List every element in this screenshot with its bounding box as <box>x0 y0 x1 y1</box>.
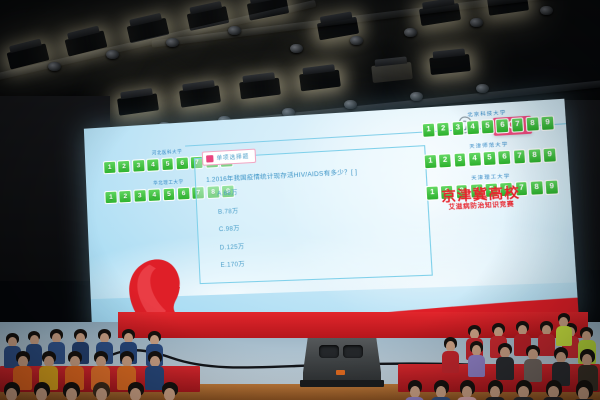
event-banner-line1: 京津冀高校 <box>441 185 520 203</box>
question-type-label: 单项选择题 <box>216 152 249 162</box>
score-cell[interactable]: 4 <box>146 158 160 172</box>
score-cell[interactable]: 3 <box>132 159 145 173</box>
score-cell[interactable]: 5 <box>161 157 175 171</box>
university-score-cell[interactable]: 2 <box>436 122 450 137</box>
right-university-panel: 北京科技大学 1 2 3 4 5 6 7 8 9 天津师范大学 <box>421 106 560 208</box>
question-text: 1.2016年我国疫情统计现存活HIV/AIDS有多少？[ ] <box>206 163 417 183</box>
par-can-icon <box>48 62 61 71</box>
stage-lamp <box>117 93 159 115</box>
score-cell[interactable]: 5 <box>162 188 176 202</box>
par-can-icon <box>290 44 303 53</box>
answer-option[interactable]: A.68万 <box>217 187 242 197</box>
university-score-cell[interactable]: 9 <box>542 147 557 163</box>
question-type-badge: 单项选择题 <box>202 149 256 166</box>
answer-option[interactable]: C.98万 <box>219 223 244 233</box>
par-can-icon <box>106 50 119 59</box>
university-score-cell[interactable]: 3 <box>453 152 467 167</box>
university-score-cell[interactable]: 5 <box>482 151 496 167</box>
square-bullet-icon <box>206 155 214 162</box>
event-banner: 京津冀高校 艾滋病防治知识竞赛 <box>410 179 553 218</box>
university-score-cell[interactable]: 7 <box>512 149 526 165</box>
audience-crowd <box>0 260 600 400</box>
score-cell[interactable]: 6 <box>175 156 189 170</box>
stage-lamp <box>239 78 281 100</box>
par-can-icon <box>470 18 483 27</box>
university-score-cell[interactable]: 7 <box>510 117 524 133</box>
university-group: 天津师范大学 1 2 3 4 5 6 7 8 9 <box>423 138 557 170</box>
par-can-icon <box>410 92 423 101</box>
answer-option[interactable]: D.125万 <box>219 241 244 251</box>
university-score-cell[interactable]: 3 <box>451 121 465 136</box>
university-score-cell[interactable]: 8 <box>525 116 539 132</box>
university-score-cell[interactable]: 5 <box>480 119 494 135</box>
university-score-cell[interactable]: 4 <box>466 120 480 136</box>
score-cell[interactable]: 1 <box>104 191 117 205</box>
university-score-cell[interactable]: 8 <box>527 148 541 164</box>
university-score-cell[interactable]: 6 <box>495 118 509 134</box>
stage-lamp <box>429 54 471 75</box>
score-cell[interactable]: 2 <box>117 160 130 174</box>
stage-lamp <box>487 0 529 16</box>
stage-lamp-off <box>371 62 413 83</box>
university-score-cell[interactable]: 2 <box>438 153 452 168</box>
par-can-icon <box>166 38 179 47</box>
par-can-icon <box>228 26 241 35</box>
answer-option[interactable]: B.78万 <box>218 205 243 215</box>
score-cell[interactable]: 3 <box>133 189 146 203</box>
score-cell[interactable]: 4 <box>148 188 162 202</box>
stage-lamp <box>419 3 461 26</box>
score-cell[interactable]: 1 <box>103 161 116 175</box>
par-can-icon <box>344 100 357 109</box>
university-score-cell[interactable]: 4 <box>468 151 482 166</box>
stage-lamp <box>179 85 221 107</box>
university-score-cell[interactable]: 9 <box>540 115 555 131</box>
university-score-cell[interactable]: 1 <box>422 123 436 138</box>
par-can-icon <box>476 84 489 93</box>
par-can-icon <box>404 28 417 37</box>
par-can-icon <box>540 6 553 15</box>
stage-lamp <box>299 70 341 92</box>
score-cell[interactable]: 2 <box>119 190 132 204</box>
university-score-cell[interactable]: 6 <box>497 150 511 166</box>
university-score-cell[interactable]: 1 <box>424 154 438 169</box>
par-can-icon <box>350 36 363 45</box>
score-cell[interactable]: 6 <box>177 187 191 201</box>
stage-photo: O 河北医科大学 1 2 3 4 5 6 7 8 9 <box>0 0 600 400</box>
